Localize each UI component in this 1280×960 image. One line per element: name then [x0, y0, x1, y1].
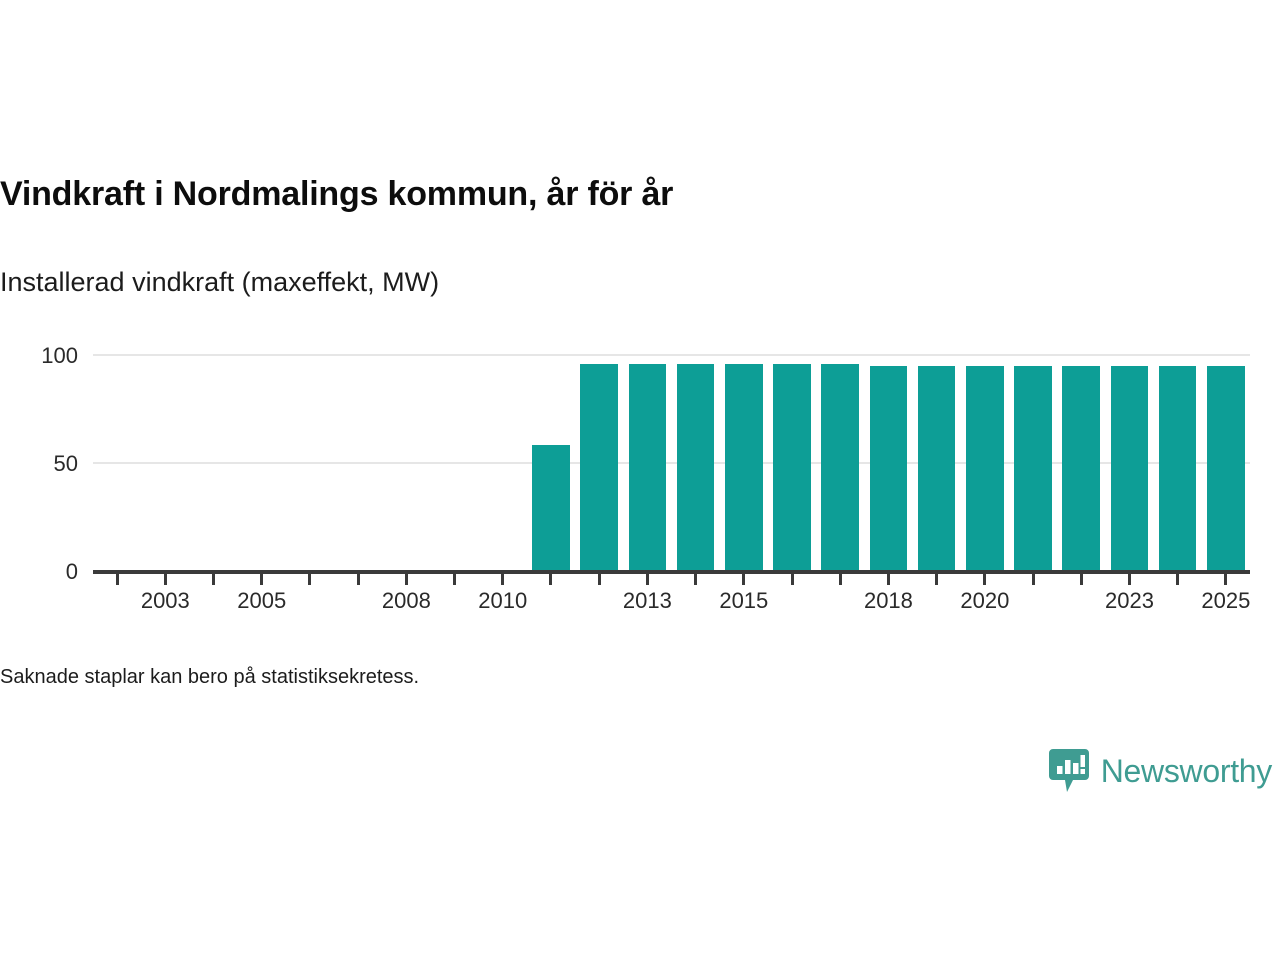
x-axis-tick-2019: [935, 574, 938, 585]
x-axis-tick-2009: [453, 574, 456, 585]
bar-2012[interactable]: [580, 364, 618, 570]
x-axis-tick-2024: [1176, 574, 1179, 585]
x-axis-tick-2003: [164, 574, 167, 585]
bar-2015[interactable]: [725, 364, 763, 570]
x-axis-tick-label: 2020: [960, 588, 1009, 614]
x-axis-tick-2023: [1128, 574, 1131, 585]
chart-subtitle: Installerad vindkraft (maxeffekt, MW): [0, 267, 1240, 298]
bar-2011[interactable]: [532, 445, 570, 570]
bar-2017[interactable]: [821, 364, 859, 570]
x-axis-tick-2025: [1224, 574, 1227, 585]
newsworthy-logo[interactable]: Newsworthy: [1048, 748, 1272, 794]
x-axis-ticks: 2003200520082010201320152018202020232025: [0, 574, 1280, 630]
bar-2013[interactable]: [629, 364, 667, 570]
x-axis-tick-2016: [791, 574, 794, 585]
chart-plot: 100 50 0 2003200520082010201320152018202…: [0, 330, 1280, 630]
x-axis-tick-2010: [501, 574, 504, 585]
x-axis-tick-2013: [646, 574, 649, 585]
x-axis-tick-2005: [260, 574, 263, 585]
x-axis-tick-2008: [405, 574, 408, 585]
bar-2025[interactable]: [1207, 366, 1245, 570]
x-axis-tick-label: 2010: [478, 588, 527, 614]
x-axis-tick-label: 2015: [719, 588, 768, 614]
x-axis-tick-2020: [983, 574, 986, 585]
bar-2021[interactable]: [1014, 366, 1052, 570]
y-axis-tick-label: 100: [0, 343, 78, 369]
x-axis-tick-label: 2023: [1105, 588, 1154, 614]
bar-2016[interactable]: [773, 364, 811, 570]
x-axis-tick-2006: [308, 574, 311, 585]
x-axis-tick-label: 2025: [1201, 588, 1250, 614]
x-axis-tick-2018: [887, 574, 890, 585]
plot-area: [93, 354, 1250, 570]
speech-bubble-bar-chart-icon: [1048, 748, 1090, 794]
chart-footnote: Saknade staplar kan bero på statistiksek…: [0, 666, 419, 689]
page-title: Vindkraft i Nordmalings kommun, år för å…: [0, 175, 1240, 214]
bar-2014[interactable]: [677, 364, 715, 570]
x-axis-tick-2004: [212, 574, 215, 585]
x-axis-tick-2022: [1080, 574, 1083, 585]
x-axis-tick-2017: [839, 574, 842, 585]
x-axis-tick-label: 2018: [864, 588, 913, 614]
bar-2019[interactable]: [918, 366, 956, 570]
x-axis-tick-2015: [742, 574, 745, 585]
bar-2022[interactable]: [1062, 366, 1100, 570]
x-axis-tick-2002: [116, 574, 119, 585]
x-axis-tick-label: 2003: [141, 588, 190, 614]
bar-2023[interactable]: [1111, 366, 1149, 570]
x-axis-tick-2011: [549, 574, 552, 585]
bar-2018[interactable]: [870, 366, 908, 570]
bar-2024[interactable]: [1159, 366, 1197, 570]
x-axis-tick-2012: [598, 574, 601, 585]
x-axis-tick-2014: [694, 574, 697, 585]
x-axis-tick-2007: [357, 574, 360, 585]
bar-series: [93, 354, 1250, 570]
y-axis-tick-label: 50: [0, 451, 78, 477]
x-axis-tick-label: 2013: [623, 588, 672, 614]
newsworthy-wordmark: Newsworthy: [1101, 753, 1272, 790]
x-axis-tick-label: 2008: [382, 588, 431, 614]
x-axis-tick-label: 2005: [237, 588, 286, 614]
x-axis-tick-2021: [1032, 574, 1035, 585]
bar-2020[interactable]: [966, 366, 1004, 570]
chart-page: Vindkraft i Nordmalings kommun, år för å…: [0, 0, 1280, 960]
